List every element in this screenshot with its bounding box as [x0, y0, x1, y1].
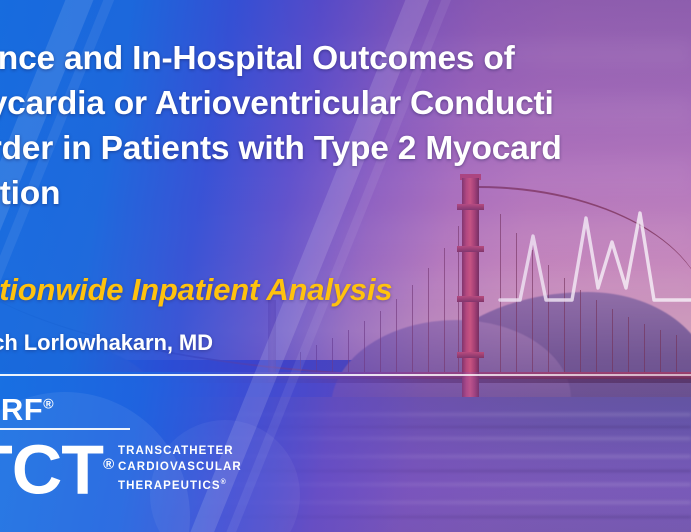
crf-logo: CRF®	[0, 392, 54, 428]
tct-wordmark-line-2: CARDIOVASCULAR	[118, 460, 242, 476]
tct-wordmark-line-3-text: THERAPEUTICS	[118, 480, 221, 492]
slide-subtitle: Nationwide Inpatient Analysis	[0, 272, 392, 308]
tct-wordmark: TRANSCATHETER CARDIOVASCULAR THERAPEUTIC…	[118, 444, 242, 494]
presentation-title-slide: idence and In-Hospital Outcomes of adyca…	[0, 0, 691, 532]
tct-registered-mark: ®	[103, 456, 113, 473]
tct-wordmark-line-1: TRANSCATHETER	[118, 444, 242, 460]
tct-wordmark-line-3: THERAPEUTICS®	[118, 475, 242, 494]
tct-wordmark-registered-mark: ®	[221, 479, 227, 486]
tct-logo: TCT®	[0, 430, 113, 504]
footer-divider	[0, 374, 691, 376]
tct-logo-text: TCT	[0, 430, 103, 508]
crf-logo-text: CRF	[0, 392, 43, 427]
crf-registered-mark: ®	[43, 396, 54, 412]
page-title: idence and In-Hospital Outcomes of adyca…	[0, 36, 691, 216]
presenter-name: avich Lorlowhakarn, MD	[0, 330, 213, 356]
